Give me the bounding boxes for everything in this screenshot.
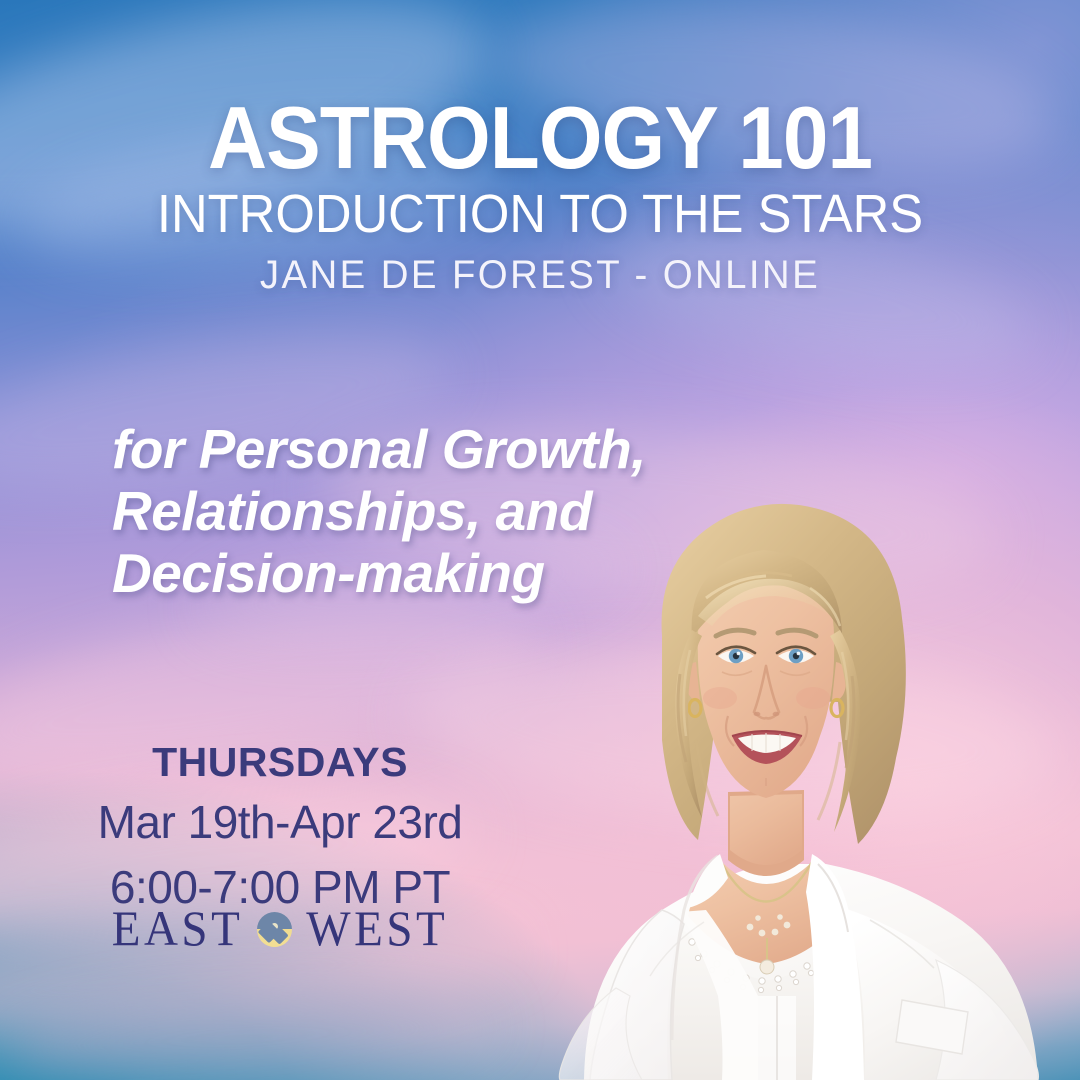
water-shape: [257, 940, 292, 947]
schedule-dates: Mar 19th-Apr 23rd: [0, 799, 560, 845]
schedule-time: 6:00-7:00 PM PT: [0, 864, 560, 910]
logo-word-west: WEST: [306, 905, 448, 955]
logo-word-east: EAST: [112, 905, 244, 955]
benefit-line: Relationships, and: [112, 480, 646, 542]
sun-over-mountains-icon: [257, 912, 292, 947]
presenter-line: JANE DE FOREST - ONLINE: [22, 255, 1059, 295]
promo-poster: ASTROLOGY 101 INTRODUCTION TO THE STARS …: [0, 0, 1080, 1080]
headings-block: ASTROLOGY 101 INTRODUCTION TO THE STARS …: [0, 0, 1080, 295]
east-west-logo: EAST WEST: [0, 906, 560, 953]
schedule-day: THURSDAYS: [0, 742, 560, 783]
schedule-block: THURSDAYS Mar 19th-Apr 23rd 6:00-7:00 PM…: [0, 742, 560, 910]
benefit-line: for Personal Growth,: [112, 418, 646, 480]
benefits-block: for Personal Growth, Relationships, and …: [112, 418, 646, 604]
pendant-pearl: [760, 960, 774, 974]
page-title: ASTROLOGY 101: [38, 98, 1042, 179]
benefit-line: Decision-making: [112, 542, 646, 604]
page-subtitle: INTRODUCTION TO THE STARS: [32, 187, 1047, 241]
